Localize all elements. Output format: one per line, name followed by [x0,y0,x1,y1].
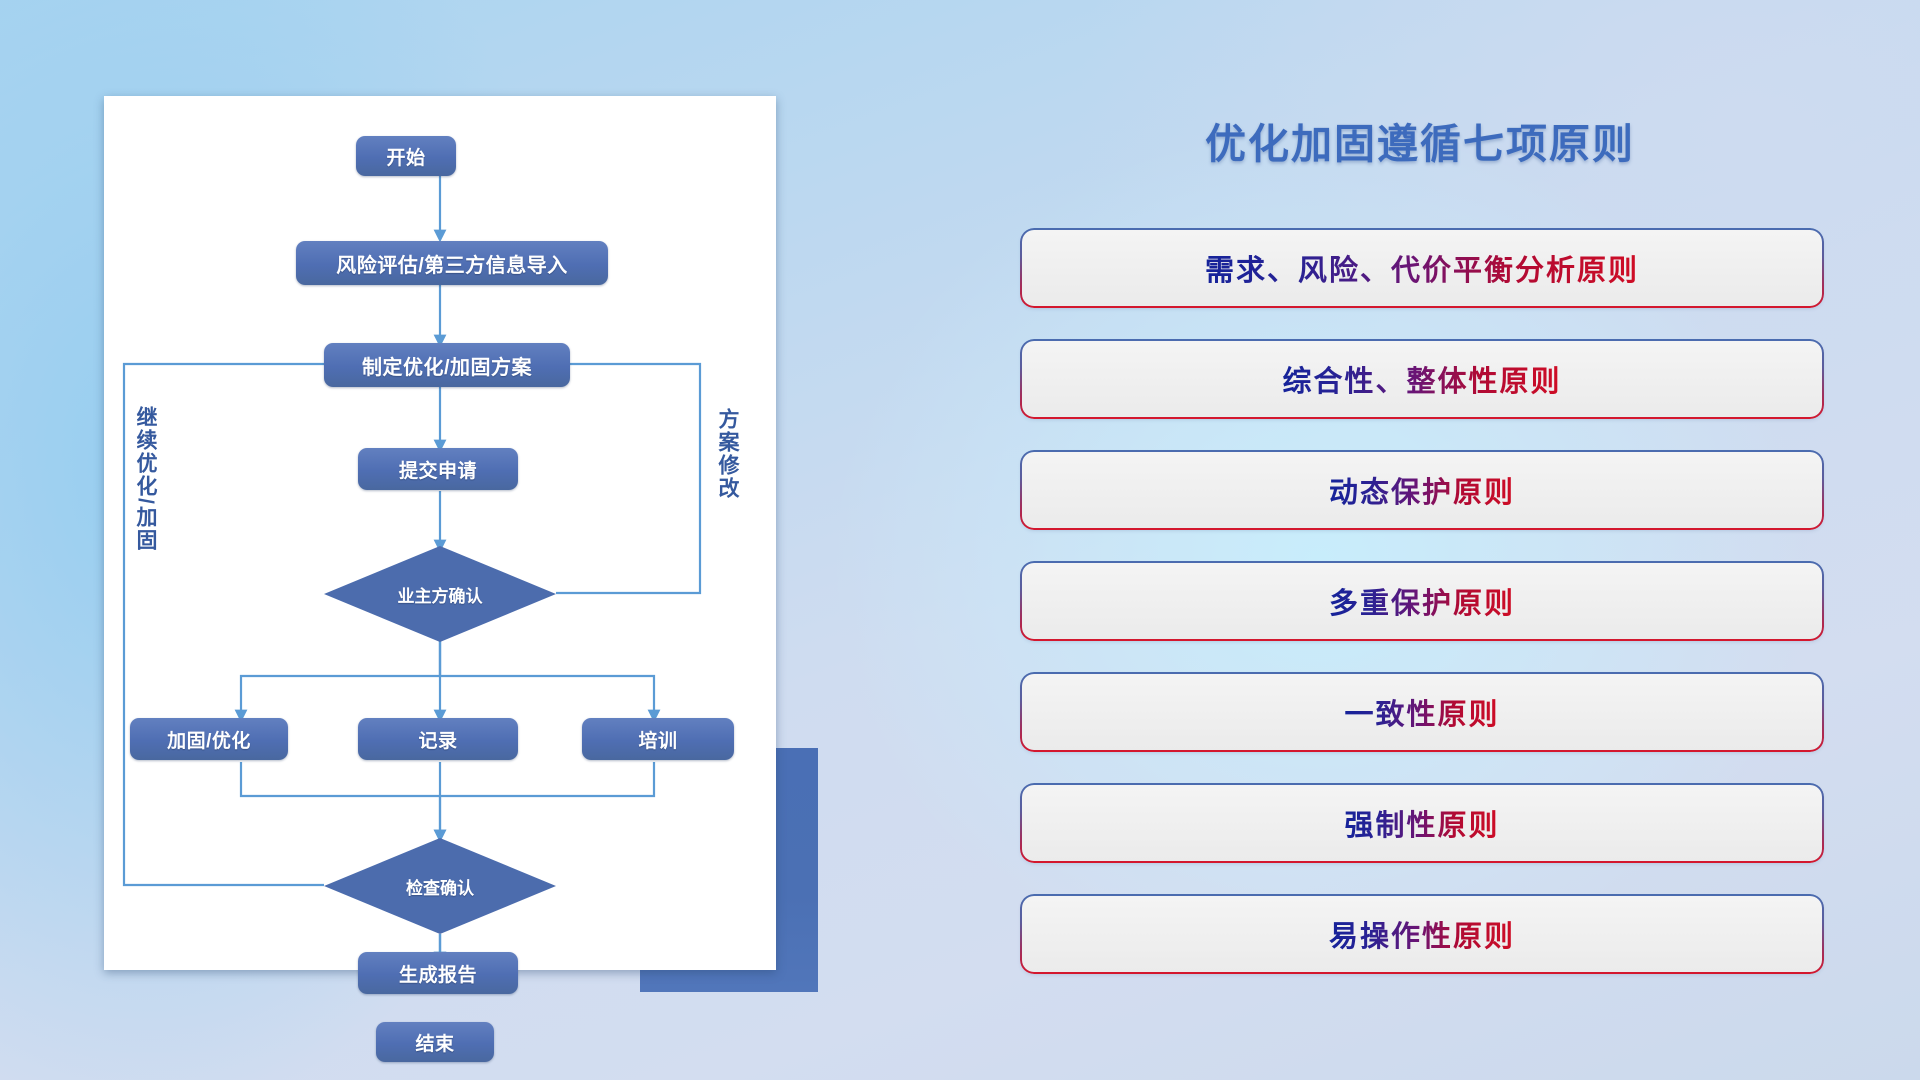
flow-node-label: 加固/优化 [167,726,251,753]
principle-card[interactable]: 动态保护原则 [1022,452,1822,528]
edge-label-continue-optimize: 继续优化/加固 [134,406,156,552]
flowchart-canvas: 开始 风险评估/第三方信息导入 制定优化/加固方案 提交申请 业主方确认 加固/… [104,96,776,970]
principle-label: 综合性、整体性原则 [1282,358,1561,400]
flow-node-start[interactable]: 开始 [356,136,456,176]
principle-label: 易操作性原则 [1329,913,1515,955]
flow-node-reinforce-optimize[interactable]: 加固/优化 [130,718,288,760]
principle-card[interactable]: 强制性原则 [1022,785,1822,861]
flow-node-label: 制定优化/加固方案 [362,351,532,380]
principles-title: 优化加固遵循七项原则 [1030,110,1810,170]
principle-label: 需求、风险、代价平衡分析原则 [1205,247,1639,289]
flow-node-label: 业主方确认 [398,582,483,607]
principle-label: 动态保护原则 [1329,469,1515,511]
flow-node-generate-report[interactable]: 生成报告 [358,952,518,994]
principles-list: 需求、风险、代价平衡分析原则 综合性、整体性原则 动态保护原则 多重保护原则 一… [1022,230,1822,1007]
flow-node-make-plan[interactable]: 制定优化/加固方案 [324,343,570,387]
flow-node-label: 记录 [418,726,457,753]
flow-node-record[interactable]: 记录 [358,718,518,760]
flow-node-label: 开始 [386,143,425,170]
principle-card[interactable]: 易操作性原则 [1022,896,1822,972]
flow-node-label: 结束 [415,1029,454,1056]
flow-node-label: 检查确认 [406,874,474,899]
flow-node-submit-application[interactable]: 提交申请 [358,448,518,490]
principle-card[interactable]: 一致性原则 [1022,674,1822,750]
principle-label: 强制性原则 [1344,802,1499,844]
flow-node-label: 生成报告 [399,960,477,987]
principle-label: 一致性原则 [1344,691,1499,733]
edge-label-plan-revision: 方案修改 [716,408,738,500]
flow-node-label: 培训 [638,726,677,753]
flow-node-training[interactable]: 培训 [582,718,734,760]
flow-node-risk-assessment[interactable]: 风险评估/第三方信息导入 [296,241,608,285]
principle-card[interactable]: 多重保护原则 [1022,563,1822,639]
flowchart-card: 开始 风险评估/第三方信息导入 制定优化/加固方案 提交申请 业主方确认 加固/… [104,96,776,970]
principle-card[interactable]: 需求、风险、代价平衡分析原则 [1022,230,1822,306]
principle-label: 多重保护原则 [1329,580,1515,622]
flow-node-label: 风险评估/第三方信息导入 [336,249,568,278]
slide-root: 开始 风险评估/第三方信息导入 制定优化/加固方案 提交申请 业主方确认 加固/… [0,0,1920,1080]
flow-node-end[interactable]: 结束 [376,1022,494,1062]
principle-card[interactable]: 综合性、整体性原则 [1022,341,1822,417]
flow-node-label: 提交申请 [399,456,477,483]
